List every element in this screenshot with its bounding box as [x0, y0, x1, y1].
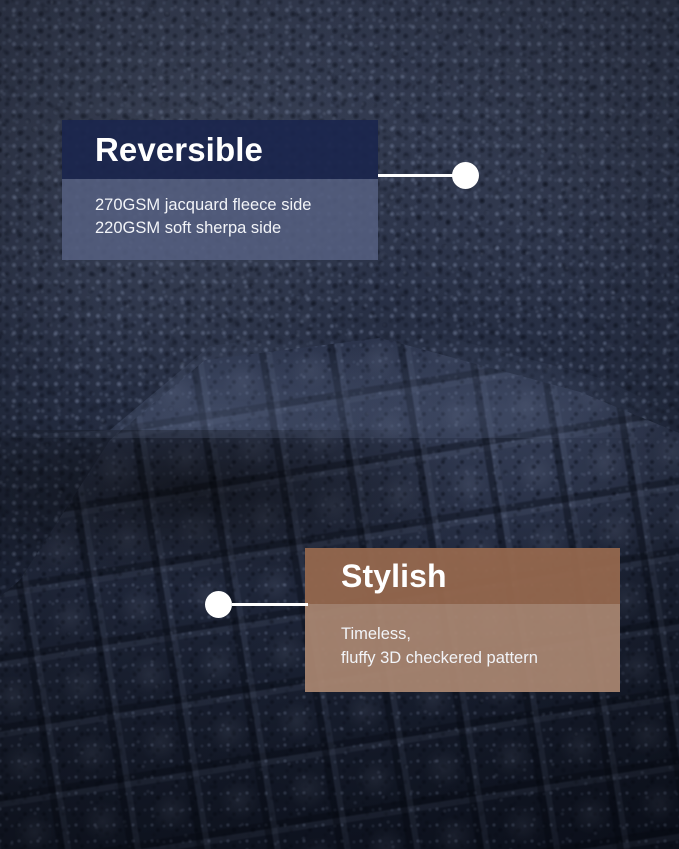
leader-dot-reversible [452, 162, 479, 189]
callout-stylish-body: Timeless, fluffy 3D checkered pattern [305, 604, 620, 692]
product-feature-image: Reversible 270GSM jacquard fleece side 2… [0, 0, 679, 849]
callout-reversible-header: Reversible [62, 120, 378, 179]
callout-stylish-heading: Stylish [341, 560, 447, 592]
leader-dot-stylish [205, 591, 232, 618]
callout-stylish: Stylish Timeless, fluffy 3D checkered pa… [305, 548, 620, 692]
callout-reversible-body: 270GSM jacquard fleece side 220GSM soft … [62, 179, 378, 260]
callout-stylish-text: Timeless, fluffy 3D checkered pattern [341, 622, 620, 670]
callout-stylish-header: Stylish [305, 548, 620, 604]
callout-reversible: Reversible 270GSM jacquard fleece side 2… [62, 120, 378, 260]
leader-line-reversible [378, 174, 462, 177]
callout-reversible-text: 270GSM jacquard fleece side 220GSM soft … [95, 194, 378, 240]
callout-reversible-heading: Reversible [95, 133, 263, 166]
leader-line-stylish [232, 603, 308, 606]
